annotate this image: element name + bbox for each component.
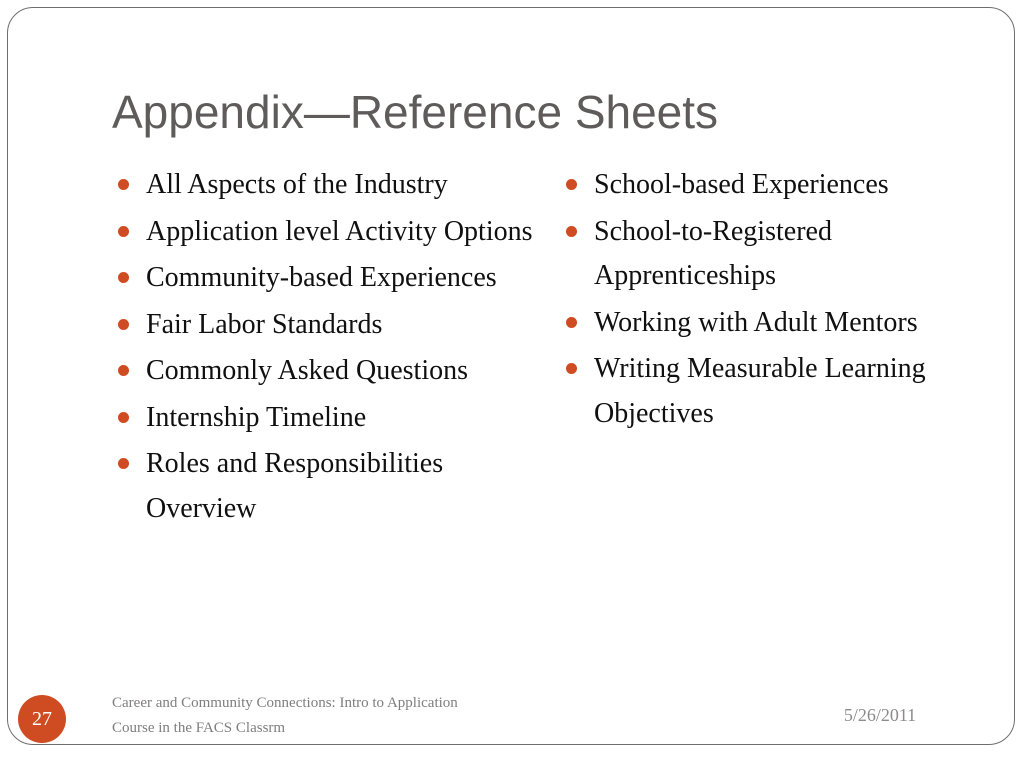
bullet-dot-icon [566, 179, 577, 190]
list-item-label: Writing Measurable Learning Objectives [594, 347, 978, 436]
footer-date: 5/26/2011 [790, 703, 970, 727]
list-item-label: All Aspects of the Industry [146, 163, 540, 208]
list-item-label: Fair Labor Standards [146, 303, 540, 348]
list-item: Roles and Responsibilities Overview [110, 442, 540, 531]
list-item: Commonly Asked Questions [110, 349, 540, 394]
bullet-dot-icon [566, 317, 577, 328]
footer-line-2: Course in the FACS Classrm [112, 716, 582, 741]
bullet-dot-icon [118, 179, 129, 190]
page-title: Appendix—Reference Sheets [112, 84, 952, 140]
list-item-label: School-based Experiences [594, 163, 978, 208]
bullet-dot-icon [118, 272, 129, 283]
list-item: Fair Labor Standards [110, 303, 540, 348]
footer-line-1: Career and Community Connections: Intro … [112, 691, 582, 716]
bullet-columns: All Aspects of the Industry Application … [0, 163, 1024, 663]
list-item: School-based Experiences [558, 163, 978, 208]
list-item: Community-based Experiences [110, 256, 540, 301]
list-item-label: Working with Adult Mentors [594, 301, 978, 346]
bullet-dot-icon [118, 412, 129, 423]
list-item: Internship Timeline [110, 396, 540, 441]
list-item: School-to-Registered Apprenticeships [558, 210, 978, 299]
list-item-label: Internship Timeline [146, 396, 540, 441]
bullet-dot-icon [566, 226, 577, 237]
slide-number-badge: 27 [18, 695, 66, 743]
footer-text: Career and Community Connections: Intro … [112, 691, 582, 741]
bullet-dot-icon [566, 363, 577, 374]
list-item-label: Community-based Experiences [146, 256, 540, 301]
bullet-dot-icon [118, 226, 129, 237]
list-item-label: School-to-Registered Apprenticeships [594, 210, 978, 299]
presentation-slide: Appendix—Reference Sheets All Aspects of… [0, 0, 1024, 768]
bullet-dot-icon [118, 319, 129, 330]
list-item: Working with Adult Mentors [558, 301, 978, 346]
bullet-column-right: School-based Experiences School-to-Regis… [558, 163, 978, 438]
list-item: Application level Activity Options [110, 210, 540, 255]
bullet-dot-icon [118, 365, 129, 376]
bullet-column-left: All Aspects of the Industry Application … [110, 163, 540, 533]
list-item-label: Roles and Responsibilities Overview [146, 442, 540, 531]
list-item-label: Application level Activity Options [146, 210, 540, 255]
list-item: All Aspects of the Industry [110, 163, 540, 208]
list-item-label: Commonly Asked Questions [146, 349, 540, 394]
list-item: Writing Measurable Learning Objectives [558, 347, 978, 436]
bullet-dot-icon [118, 458, 129, 469]
